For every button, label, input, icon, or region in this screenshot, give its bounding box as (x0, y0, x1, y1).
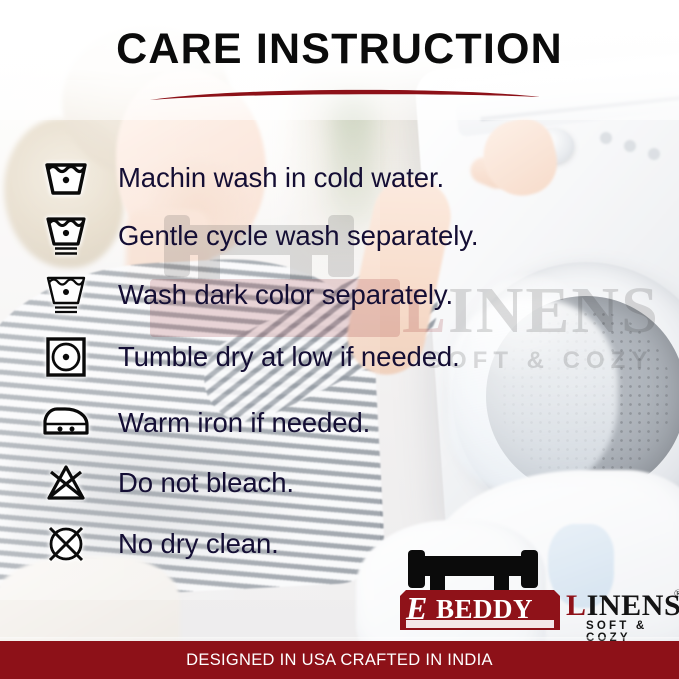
footer-text: DESIGNED IN USA CRAFTED IN INDIA (186, 651, 493, 670)
care-row-gentle-cycle: Gentle cycle wash separately. (40, 213, 600, 259)
care-text-warm-iron: Warm iron if needed. (118, 407, 370, 439)
logo-linens-text: LINENS (566, 591, 679, 621)
care-text-no-dry-clean: No dry clean. (118, 528, 279, 560)
tumble-dry-low-icon (40, 335, 92, 379)
care-instruction-card: LINENS SOFT & COZY CARE INSTRUCTION Mach… (0, 0, 679, 679)
care-text-tumble-dry: Tumble dry at low if needed. (118, 341, 460, 373)
gentle-cycle-icon (40, 214, 92, 258)
footer-bar: DESIGNED IN USA CRAFTED IN INDIA (0, 641, 679, 679)
registered-trademark-symbol: ® (674, 588, 679, 600)
care-text-gentle-cycle: Gentle cycle wash separately. (118, 220, 478, 252)
care-text-wash-separately: Wash dark color separately. (118, 279, 453, 311)
warm-iron-icon (40, 401, 92, 445)
care-row-wash-separately: Wash dark color separately. (40, 272, 600, 318)
logo-e-mark: E (406, 592, 427, 624)
care-row-do-not-bleach: Do not bleach. (40, 460, 600, 506)
care-row-warm-iron: Warm iron if needed. (40, 400, 600, 446)
care-row-tumble-dry: Tumble dry at low if needed. (40, 334, 600, 380)
care-row-machine-wash: Machin wash in cold water. (40, 155, 600, 201)
bed-icon (408, 548, 538, 592)
logo-linens-l: L (566, 589, 587, 622)
brand-logo: E BEDDY LINENS ® SOFT & COZY (400, 548, 672, 630)
machine-wash-icon (40, 156, 92, 200)
logo-linens-rest: INENS (587, 589, 679, 622)
care-text-do-not-bleach: Do not bleach. (118, 467, 294, 499)
logo-beddy-text: BEDDY (436, 596, 533, 623)
care-text-machine-wash: Machin wash in cold water. (118, 162, 444, 194)
do-not-bleach-icon (40, 461, 92, 505)
no-dry-clean-icon (40, 522, 92, 566)
wash-separately-icon (40, 273, 92, 317)
